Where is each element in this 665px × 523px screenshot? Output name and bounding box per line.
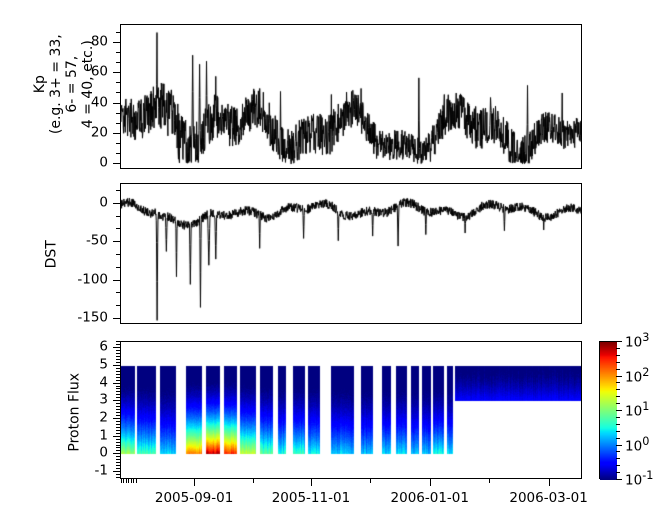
colorbar-tick-minor <box>616 424 620 425</box>
x-tick-major <box>430 479 431 486</box>
colorbar-tick-minor <box>616 451 620 452</box>
y-tick-minor <box>116 153 120 154</box>
y-tick-major <box>113 436 120 437</box>
y-tick-minor <box>116 292 120 293</box>
panel-dst <box>120 183 582 324</box>
y-tick-minor <box>116 477 120 478</box>
y-tick-major <box>113 347 120 348</box>
y-tick-major <box>113 280 120 281</box>
y-tick-major <box>113 318 120 319</box>
colorbar-tick-label: 10-1 <box>625 470 653 488</box>
y-tick-minor <box>116 368 120 369</box>
y-tick-minor <box>116 456 120 457</box>
y-tick-minor <box>116 344 120 345</box>
x-tick-minor <box>128 479 129 483</box>
x-tick-major <box>549 479 550 486</box>
colorbar-tick-minor <box>616 369 620 370</box>
y-tick-minor <box>116 32 120 33</box>
y-tick-minor <box>116 190 120 191</box>
colorbar-tick-minor <box>616 396 620 397</box>
y-tick-minor <box>116 377 120 378</box>
y-tick-major <box>113 241 120 242</box>
y-tick-label: 3 <box>0 394 108 408</box>
panel-kp <box>120 24 582 169</box>
panel-kp-ylabel: Kp (e.g. 3+ = 33, 6- = 57, 4 = 40, etc.) <box>32 4 96 164</box>
y-tick-minor <box>116 92 120 93</box>
y-tick-major <box>113 42 120 43</box>
y-tick-major <box>113 418 120 419</box>
x-tick-label: 2006-01-01 <box>391 490 469 506</box>
y-tick-minor <box>116 391 120 392</box>
x-tick-major <box>194 479 195 486</box>
dst-timeseries <box>121 184 582 324</box>
dst-ylabel-l1: DST <box>44 214 61 294</box>
y-tick-minor <box>116 305 120 306</box>
x-tick-minor <box>136 479 137 483</box>
y-tick-minor <box>116 447 120 448</box>
colorbar-tick-minor <box>616 458 620 459</box>
kp-ylabel-l3: 6- = 57, <box>64 4 80 164</box>
colorbar-tick-major <box>616 445 622 446</box>
y-tick-major <box>113 400 120 401</box>
y-tick-minor <box>116 450 120 451</box>
colorbar-tick-minor <box>616 403 620 404</box>
x-tick-minor <box>123 479 124 483</box>
y-tick-minor <box>116 397 120 398</box>
colorbar-tick-label: 103 <box>625 332 649 350</box>
colorbar-tick-label: 100 <box>625 436 649 454</box>
y-tick-minor <box>116 403 120 404</box>
y-tick-minor <box>116 406 120 407</box>
colorbar-tick-minor <box>616 355 620 356</box>
x-tick-minor <box>370 479 371 483</box>
kp-ylabel-l4: 4 = 40, etc.) <box>80 4 96 164</box>
colorbar-tick-major <box>616 410 622 411</box>
y-tick-label: 2 <box>0 411 108 425</box>
y-tick-minor <box>116 143 120 144</box>
x-tick-label: 2005-09-01 <box>155 490 233 506</box>
y-tick-minor <box>116 113 120 114</box>
y-tick-minor <box>116 430 120 431</box>
colorbar-tick-major <box>616 479 622 480</box>
y-tick-minor <box>116 465 120 466</box>
y-tick-minor <box>116 474 120 475</box>
y-tick-minor <box>116 380 120 381</box>
y-tick-minor <box>116 371 120 372</box>
colorbar-tick-minor <box>616 348 620 349</box>
y-tick-minor <box>116 359 120 360</box>
y-tick-minor <box>116 82 120 83</box>
y-tick-minor <box>116 362 120 363</box>
y-tick-label: 4 <box>0 376 108 390</box>
y-tick-minor <box>116 394 120 395</box>
y-tick-minor <box>116 216 120 217</box>
x-tick-minor <box>489 479 490 483</box>
y-tick-major <box>113 163 120 164</box>
colorbar-gradient <box>600 342 617 480</box>
y-tick-label: 5 <box>0 358 108 372</box>
colorbar <box>599 341 616 479</box>
colorbar-tick-minor <box>616 389 620 390</box>
x-tick-label: 2006-03-01 <box>509 490 587 506</box>
y-tick-minor <box>116 427 120 428</box>
panel-proton-flux-ylabel: Proton Flux <box>67 347 84 477</box>
colorbar-tick-minor <box>616 417 620 418</box>
x-tick-minor <box>121 479 122 483</box>
y-tick-minor <box>116 356 120 357</box>
x-tick-minor <box>253 479 254 483</box>
colorbar-tick-minor <box>616 465 620 466</box>
y-tick-minor <box>116 412 120 413</box>
y-tick-label: -150 <box>0 311 108 325</box>
y-tick-minor <box>116 123 120 124</box>
y-tick-minor <box>116 442 120 443</box>
kp-timeseries <box>121 25 582 169</box>
colorbar-tick-minor <box>616 431 620 432</box>
y-tick-minor <box>116 424 120 425</box>
y-tick-major <box>113 72 120 73</box>
y-tick-label: 0 <box>0 196 108 210</box>
y-tick-major <box>113 453 120 454</box>
y-tick-label: -1 <box>0 464 108 478</box>
y-tick-minor <box>116 462 120 463</box>
y-tick-label: 0 <box>0 447 108 461</box>
y-tick-minor <box>116 62 120 63</box>
colorbar-tick-minor <box>616 438 620 439</box>
colorbar-tick-major <box>616 341 622 342</box>
kp-ylabel-l2: (e.g. 3+ = 33, <box>48 4 64 164</box>
x-tick-label: 2005-11-01 <box>272 490 350 506</box>
y-tick-minor <box>116 350 120 351</box>
y-tick-minor <box>116 341 120 342</box>
y-tick-minor <box>116 445 120 446</box>
proton-flux-spectrogram <box>121 342 582 479</box>
y-tick-minor <box>116 409 120 410</box>
y-tick-major <box>113 471 120 472</box>
colorbar-tick-label: 101 <box>625 401 649 419</box>
kp-ylabel-l1: Kp <box>32 4 48 164</box>
y-tick-minor <box>116 421 120 422</box>
x-tick-minor <box>126 479 127 483</box>
panel-dst-ylabel: DST <box>44 214 61 294</box>
y-tick-minor <box>116 415 120 416</box>
y-tick-label: 1 <box>0 429 108 443</box>
y-tick-minor <box>116 459 120 460</box>
colorbar-tick-minor <box>616 472 620 473</box>
y-tick-major <box>113 203 120 204</box>
y-tick-minor <box>116 267 120 268</box>
y-tick-major <box>113 383 120 384</box>
colorbar-tick-minor <box>616 362 620 363</box>
colorbar-tick-label: 102 <box>625 367 649 385</box>
x-tick-major <box>311 479 312 486</box>
y-tick-major <box>113 103 120 104</box>
y-tick-minor <box>116 353 120 354</box>
y-tick-minor <box>116 388 120 389</box>
y-tick-minor <box>116 374 120 375</box>
panel-proton-flux <box>120 341 582 479</box>
y-tick-minor <box>116 228 120 229</box>
y-tick-major <box>113 365 120 366</box>
y-tick-minor <box>116 386 120 387</box>
y-tick-minor <box>116 254 120 255</box>
x-tick-minor <box>131 479 132 483</box>
colorbar-tick-minor <box>616 382 620 383</box>
y-tick-minor <box>116 433 120 434</box>
figure-canvas: 020406080 Kp (e.g. 3+ = 33, 6- = 57, 4 =… <box>0 0 665 523</box>
y-tick-major <box>113 133 120 134</box>
x-tick-minor <box>133 479 134 483</box>
y-tick-minor <box>116 52 120 53</box>
pf-ylabel-l1: Proton Flux <box>67 347 84 477</box>
y-tick-minor <box>116 468 120 469</box>
y-tick-minor <box>116 439 120 440</box>
colorbar-tick-major <box>616 376 622 377</box>
y-tick-label: 6 <box>0 340 108 354</box>
